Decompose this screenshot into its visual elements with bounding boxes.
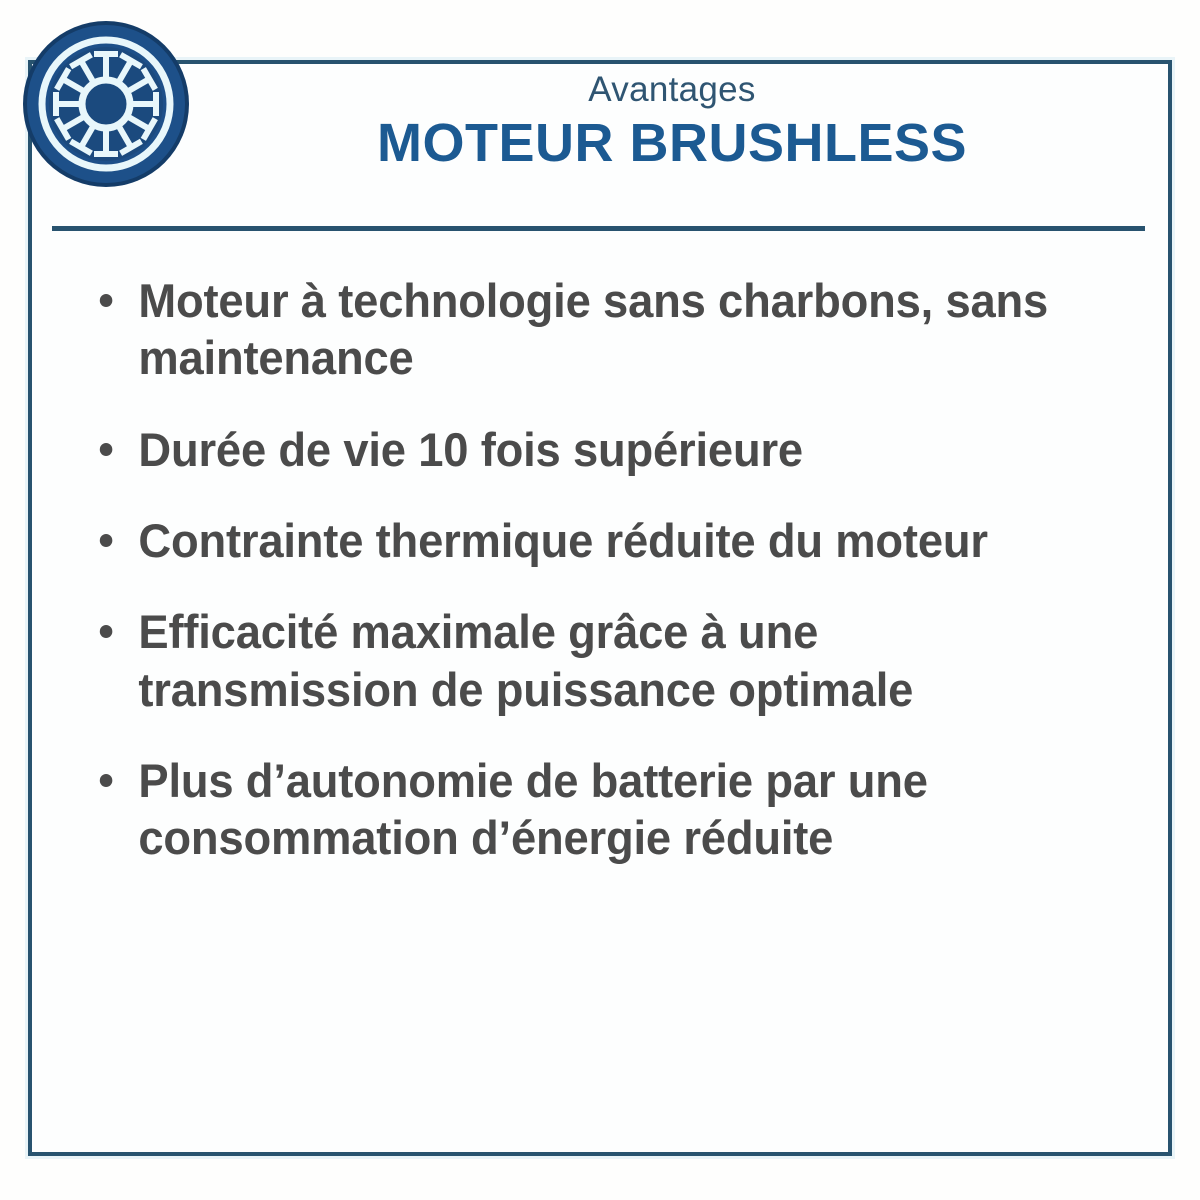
bullet-dot-icon: [100, 625, 113, 638]
list-item: Plus d’autonomie de batterie par une con…: [94, 752, 1078, 867]
list-item-label: Contrainte thermique réduite du moteur: [138, 512, 1078, 569]
advantages-slide: Avantages MOTEUR BRUSHLESS Moteur à tech…: [0, 0, 1200, 1200]
advantages-list: Moteur à technologie sans charbons, sans…: [94, 272, 1114, 867]
eyebrow-label: Avantages: [200, 70, 1144, 109]
slide-header: Avantages MOTEUR BRUSHLESS: [200, 70, 1144, 175]
list-item-label: Efficacité maximale grâce à une transmis…: [138, 603, 1078, 718]
page-title: MOTEUR BRUSHLESS: [200, 113, 1144, 175]
header-divider: [52, 226, 1145, 231]
list-item: Durée de vie 10 fois supérieure: [94, 421, 1078, 478]
list-item-label: Durée de vie 10 fois supérieure: [138, 421, 1078, 478]
brushless-motor-rotor-wheel-icon: [22, 20, 190, 188]
bullet-dot-icon: [100, 774, 113, 787]
list-item-label: Moteur à technologie sans charbons, sans…: [138, 272, 1078, 387]
list-item: Moteur à technologie sans charbons, sans…: [94, 272, 1078, 387]
list-item: Contrainte thermique réduite du moteur: [94, 512, 1078, 569]
list-item-label: Plus d’autonomie de batterie par une con…: [138, 752, 1078, 867]
bullet-dot-icon: [100, 294, 113, 307]
list-item: Efficacité maximale grâce à une transmis…: [94, 603, 1078, 718]
bullet-dot-icon: [100, 443, 113, 456]
bullet-dot-icon: [100, 534, 113, 547]
